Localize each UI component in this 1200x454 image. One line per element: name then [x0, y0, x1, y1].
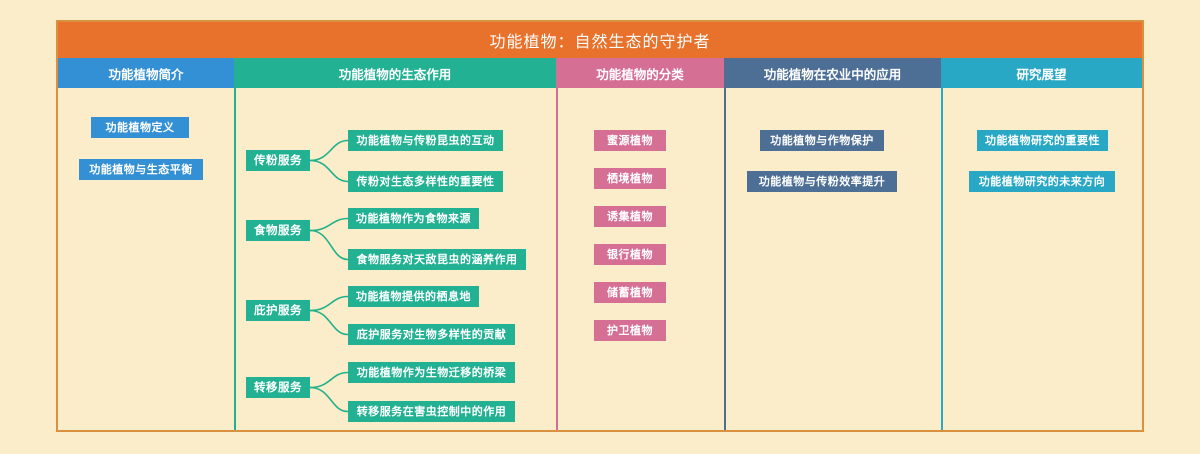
node-parent-3[interactable]: 庇护服务 [246, 300, 310, 321]
node-child-1[interactable]: 功能植物与传粉昆虫的互动 [348, 130, 503, 151]
node-child-8[interactable]: 转移服务在害虫控制中的作用 [348, 401, 515, 422]
node-label: 功能植物研究的未来方向 [979, 171, 1106, 192]
column-header-5[interactable]: 研究展望 [941, 58, 1142, 88]
column-header-row: 功能植物简介功能植物的生态作用功能植物的分类功能植物在农业中的应用研究展望 [58, 58, 1142, 88]
node-label: 功能植物作为食物来源 [356, 208, 471, 229]
node-label: 护卫植物 [607, 320, 653, 341]
node-label: 功能植物研究的重要性 [985, 130, 1100, 151]
node-item-2[interactable]: 功能植物研究的未来方向 [969, 171, 1115, 192]
column-header-label: 功能植物在农业中的应用 [764, 64, 902, 83]
node-label: 银行植物 [607, 244, 653, 265]
node-item-2[interactable]: 功能植物与传粉效率提升 [747, 171, 897, 192]
node-item-3[interactable]: 诱集植物 [594, 206, 666, 227]
column-header-2[interactable]: 功能植物的生态作用 [234, 58, 556, 88]
node-label: 栖境植物 [607, 168, 653, 189]
connector-line [310, 141, 348, 161]
node-label: 转移服务 [254, 377, 302, 398]
node-label: 功能植物作为生物迁移的桥梁 [357, 362, 507, 383]
node-item-6[interactable]: 护卫植物 [594, 320, 666, 341]
connector-line [310, 373, 348, 388]
connector-line [310, 388, 348, 412]
connector-line [310, 161, 348, 182]
column-body-3: 蜜源植物栖境植物诱集植物银行植物储蓄植物护卫植物 [556, 88, 724, 430]
node-label: 诱集植物 [607, 206, 653, 227]
connector-line [310, 311, 348, 335]
node-item-1[interactable]: 功能植物定义 [91, 117, 189, 138]
node-item-1[interactable]: 蜜源植物 [594, 130, 666, 151]
node-label: 功能植物与传粉效率提升 [759, 171, 886, 192]
column-header-label: 功能植物的分类 [596, 64, 684, 83]
node-label: 传粉服务 [254, 150, 302, 171]
connector-line [310, 219, 348, 231]
node-label: 功能植物提供的栖息地 [356, 286, 471, 307]
column-header-label: 功能植物简介 [108, 64, 183, 83]
node-child-5[interactable]: 功能植物提供的栖息地 [348, 286, 479, 307]
node-child-6[interactable]: 庇护服务对生物多样性的贡献 [348, 324, 515, 345]
column-body-1: 功能植物定义功能植物与生态平衡 [58, 88, 234, 430]
node-parent-1[interactable]: 传粉服务 [246, 150, 310, 171]
node-label: 功能植物与作物保护 [770, 130, 874, 151]
node-item-1[interactable]: 功能植物研究的重要性 [977, 130, 1108, 151]
node-label: 庇护服务对生物多样性的贡献 [357, 324, 507, 345]
connector-line [310, 297, 348, 311]
node-child-2[interactable]: 传粉对生态多样性的重要性 [348, 171, 503, 192]
mindmap-board: 功能植物：自然生态的守护者 功能植物简介功能植物的生态作用功能植物的分类功能植物… [56, 20, 1144, 432]
node-label: 功能植物与传粉昆虫的互动 [357, 130, 495, 151]
column-body-2: 传粉服务食物服务庇护服务转移服务功能植物与传粉昆虫的互动传粉对生态多样性的重要性… [234, 88, 556, 430]
column-header-3[interactable]: 功能植物的分类 [556, 58, 724, 88]
node-label: 传粉对生态多样性的重要性 [357, 171, 495, 192]
column-header-label: 功能植物的生态作用 [339, 64, 452, 83]
node-label: 食物服务 [254, 220, 302, 241]
node-label: 功能植物定义 [106, 117, 175, 138]
node-parent-4[interactable]: 转移服务 [246, 377, 310, 398]
node-item-2[interactable]: 栖境植物 [594, 168, 666, 189]
node-label: 庇护服务 [254, 300, 302, 321]
column-body-row: 功能植物定义功能植物与生态平衡传粉服务食物服务庇护服务转移服务功能植物与传粉昆虫… [58, 88, 1142, 430]
column-header-4[interactable]: 功能植物在农业中的应用 [724, 58, 941, 88]
column-body-5: 功能植物研究的重要性功能植物研究的未来方向 [941, 88, 1142, 430]
node-label: 蜜源植物 [607, 130, 653, 151]
node-item-5[interactable]: 储蓄植物 [594, 282, 666, 303]
node-child-4[interactable]: 食物服务对天敌昆虫的涵养作用 [348, 249, 526, 270]
node-label: 食物服务对天敌昆虫的涵养作用 [357, 249, 518, 270]
column-header-1[interactable]: 功能植物简介 [58, 58, 234, 88]
column-header-label: 研究展望 [1016, 64, 1066, 83]
column-body-4: 功能植物与作物保护功能植物与传粉效率提升 [724, 88, 941, 430]
node-label: 储蓄植物 [607, 282, 653, 303]
page-title: 功能植物：自然生态的守护者 [58, 22, 1142, 58]
node-label: 功能植物与生态平衡 [89, 159, 193, 180]
node-child-7[interactable]: 功能植物作为生物迁移的桥梁 [348, 362, 515, 383]
connector-line [310, 231, 348, 260]
node-item-1[interactable]: 功能植物与作物保护 [760, 130, 884, 151]
node-parent-2[interactable]: 食物服务 [246, 220, 310, 241]
node-child-3[interactable]: 功能植物作为食物来源 [348, 208, 479, 229]
node-item-4[interactable]: 银行植物 [594, 244, 666, 265]
node-item-2[interactable]: 功能植物与生态平衡 [79, 159, 203, 180]
node-label: 转移服务在害虫控制中的作用 [357, 401, 507, 422]
